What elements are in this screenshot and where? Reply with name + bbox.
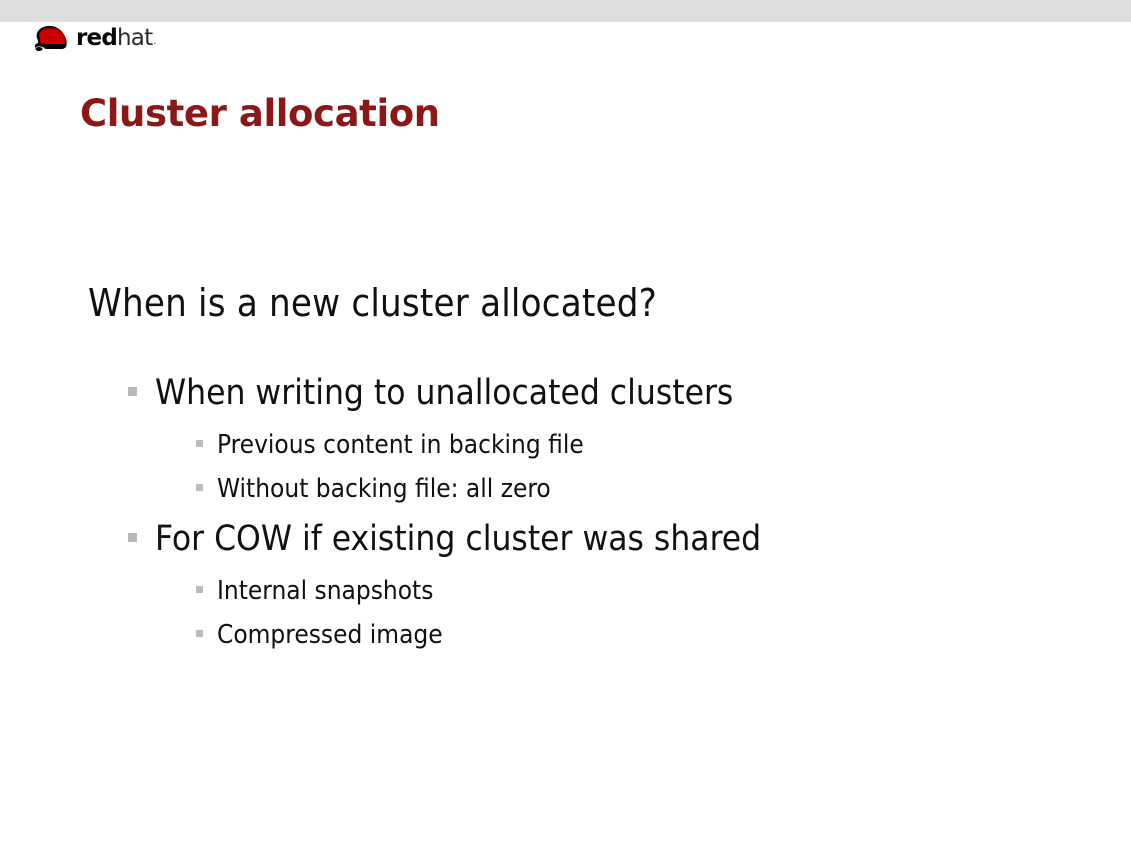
- lead-question: When is a new cluster allocated?: [88, 281, 657, 325]
- bullet-level2: Internal snapshots: [196, 576, 433, 606]
- logo-word-red: red: [76, 27, 117, 50]
- square-bullet-icon: [196, 586, 203, 593]
- redhat-shadowman-icon: [28, 23, 72, 53]
- square-bullet-icon: [196, 484, 203, 491]
- bullet-level2: Compressed image: [196, 620, 443, 650]
- square-bullet-icon: [196, 630, 203, 637]
- square-bullet-icon: [128, 387, 137, 396]
- bullet-level2-label: Previous content in backing file: [217, 430, 584, 460]
- redhat-wordmark: redhat.: [76, 27, 155, 50]
- slide-header-band: [0, 0, 1131, 22]
- bullet-level2: Without backing file: all zero: [196, 474, 551, 504]
- bullet-level1: For COW if existing cluster was shared: [128, 519, 761, 559]
- bullet-level1-label: When writing to unallocated clusters: [155, 373, 733, 413]
- bullet-level1-label: For COW if existing cluster was shared: [155, 519, 761, 559]
- bullet-level1: When writing to unallocated clusters: [128, 373, 733, 413]
- slide-title: Cluster allocation: [80, 92, 440, 135]
- square-bullet-icon: [196, 440, 203, 447]
- redhat-logo: redhat.: [28, 17, 155, 53]
- logo-word-hat: hat: [117, 27, 152, 50]
- slide-canvas: redhat. Cluster allocation When is a new…: [0, 0, 1131, 848]
- logo-trademark: .: [153, 38, 156, 47]
- bullet-level2-label: Internal snapshots: [217, 576, 433, 606]
- bullet-level2-label: Without backing file: all zero: [217, 474, 551, 504]
- bullet-level2: Previous content in backing file: [196, 430, 584, 460]
- square-bullet-icon: [128, 533, 137, 542]
- bullet-level2-label: Compressed image: [217, 620, 443, 650]
